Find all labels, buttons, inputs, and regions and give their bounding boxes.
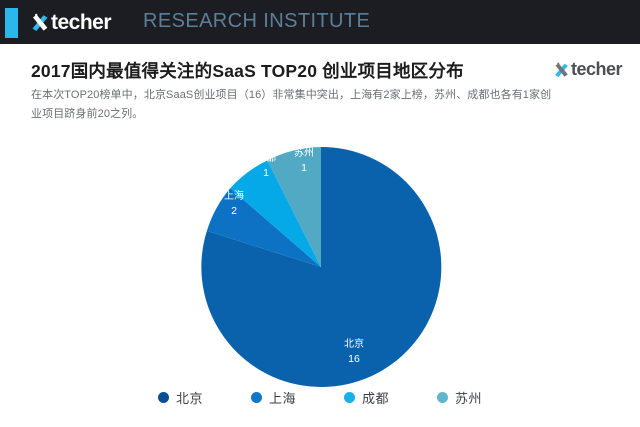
brand-logo-word: techer (51, 12, 111, 33)
legend-dot-icon (344, 392, 355, 403)
x-logo-icon (30, 12, 50, 32)
legend-dot-icon (158, 392, 169, 403)
pie-chart: 北京 16 上海 2 成都 1 苏州 1 (0, 142, 640, 392)
chart-legend: 北京 上海 成都 苏州 (0, 382, 640, 412)
brand-subtitle: RESEARCH INSTITUTE (143, 11, 370, 31)
legend-dot-icon (251, 392, 262, 403)
legend-label-shanghai: 上海 (269, 388, 296, 407)
legend-item-beijing[interactable]: 北京 (158, 388, 203, 407)
content-card: 2017国内最值得关注的SaaS TOP20 创业项目地区分布 techer 在… (0, 44, 640, 427)
page-title: 2017国内最值得关注的SaaS TOP20 创业项目地区分布 (31, 58, 464, 83)
slide-root: techer RESEARCH INSTITUTE 2017国内最值得关注的Sa… (0, 0, 640, 427)
legend-dot-icon (437, 392, 448, 403)
x-logo-icon (553, 61, 570, 78)
legend-item-suzhou[interactable]: 苏州 (437, 388, 482, 407)
page-description: 在本次TOP20榜单中，北京SaaS创业项目（16）非常集中突出，上海有2家上榜… (31, 86, 561, 125)
legend-label-chengdu: 成都 (362, 388, 389, 407)
legend-label-suzhou: 苏州 (455, 388, 482, 407)
card-brand-logo-word: techer (571, 60, 622, 78)
accent-bar (5, 8, 18, 38)
pie-canvas: 北京 16 上海 2 成都 1 苏州 1 (196, 142, 446, 392)
brand-logo: techer (30, 9, 111, 35)
card-brand-logo: techer (553, 58, 622, 80)
legend-item-shanghai[interactable]: 上海 (251, 388, 296, 407)
legend-label-beijing: 北京 (176, 388, 203, 407)
top-header-bar: techer RESEARCH INSTITUTE (0, 0, 640, 44)
legend-item-chengdu[interactable]: 成都 (344, 388, 389, 407)
